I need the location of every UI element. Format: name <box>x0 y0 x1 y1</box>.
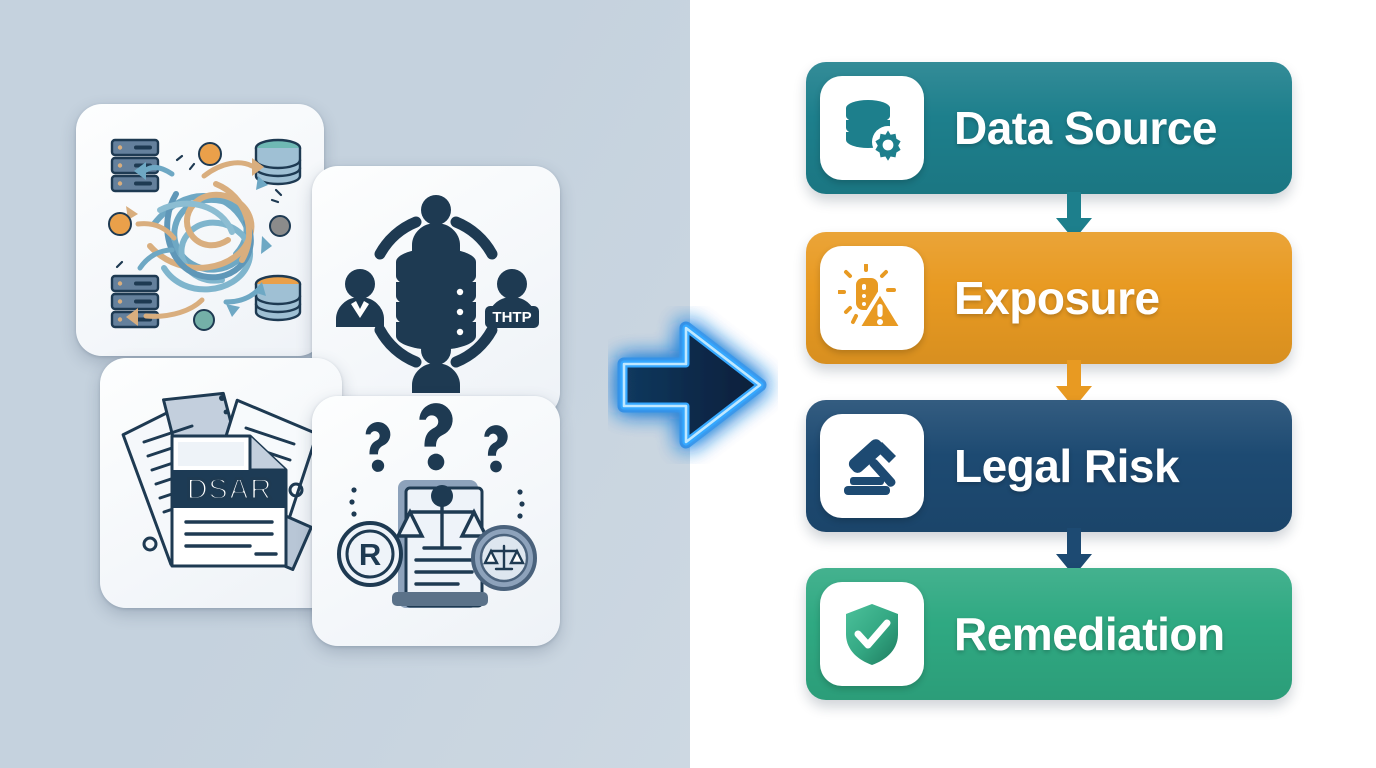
card-dsar-requests[interactable]: DSAR <box>100 358 342 608</box>
flow-step-data-source[interactable]: Data Source <box>806 62 1292 194</box>
icon-tile-remediation <box>820 582 924 686</box>
database-gear-icon <box>838 94 906 162</box>
flow-step-exposure[interactable]: Exposure <box>806 232 1292 364</box>
svg-text:THTP: THTP <box>492 309 531 326</box>
gavel-icon <box>838 432 906 500</box>
flow-step-legal-risk[interactable]: Legal Risk <box>806 400 1292 532</box>
card-legal-uncertainty[interactable]: R <box>312 396 560 646</box>
card-data-sprawl[interactable] <box>76 104 324 356</box>
flow-step-label: Exposure <box>954 271 1160 325</box>
flow-step-label: Remediation <box>954 607 1225 661</box>
svg-text:DSAR: DSAR <box>186 473 271 506</box>
privacy-risk-pipeline: Data Source <box>806 62 1298 708</box>
data-leak-warning-icon <box>838 264 906 332</box>
svg-text:R: R <box>359 537 381 572</box>
card-third-party-sharing[interactable]: THTP <box>312 166 560 418</box>
icon-tile-exposure <box>820 246 924 350</box>
dsar-document-stack-icon: DSAR <box>100 358 342 608</box>
left-panel: THTP <box>0 0 690 768</box>
icon-tile-data-source <box>820 76 924 180</box>
flow-step-label: Data Source <box>954 101 1217 155</box>
neon-right-arrow-icon <box>608 306 778 464</box>
database-people-network-icon: THTP <box>312 166 560 418</box>
flow-step-label: Legal Risk <box>954 439 1179 493</box>
flow-step-remediation[interactable]: Remediation <box>806 568 1292 700</box>
question-marks-legal-scales-icon: R <box>312 396 560 646</box>
tangled-data-flows-icon <box>76 104 324 356</box>
diagram-canvas: THTP <box>0 0 1376 768</box>
shield-check-icon <box>838 600 906 668</box>
icon-tile-legal-risk <box>820 414 924 518</box>
transition-arrow <box>608 306 778 464</box>
